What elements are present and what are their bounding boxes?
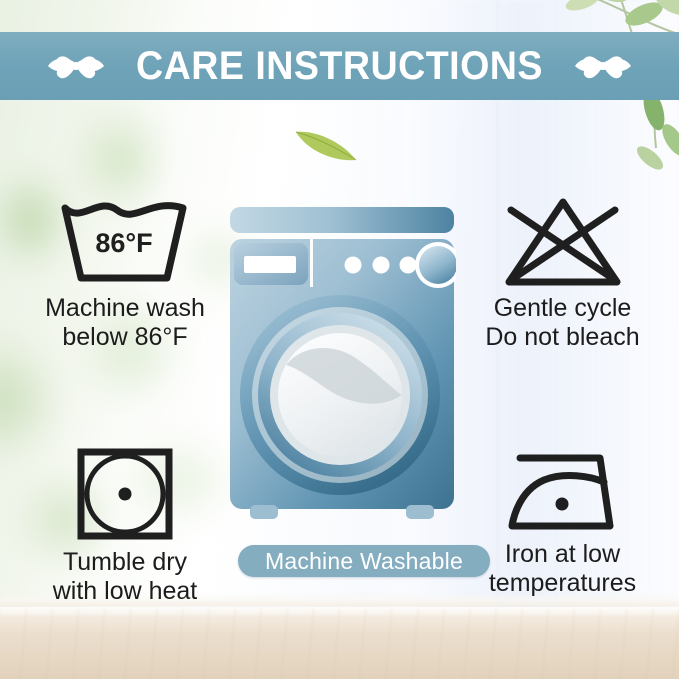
fleur-de-lis-icon-left	[47, 44, 105, 88]
symbol-label-do-not-bleach: Gentle cycle Do not bleach	[485, 294, 639, 352]
iron-low-icon	[498, 446, 628, 534]
wash-temperature-value: 86°F	[95, 228, 152, 258]
control-button[interactable]	[400, 257, 417, 274]
symbol-label-iron-low: Iron at low temperatures	[489, 540, 636, 598]
symbol-label-tumble-dry: Tumble dry with low heat	[53, 548, 198, 606]
washing-machine-graphic	[228, 205, 456, 535]
tumble-dry-low-icon	[75, 446, 175, 542]
triangle-crossed-icon	[497, 196, 629, 288]
wooden-table-surface	[0, 607, 679, 679]
control-button[interactable]	[373, 257, 390, 274]
panel-divider	[310, 239, 313, 287]
wash-tub-icon: 86°F	[55, 196, 195, 288]
symbol-iron-low: Iron at low temperatures	[455, 446, 670, 598]
badge-label: Machine Washable	[265, 550, 463, 573]
control-button[interactable]	[345, 257, 362, 274]
wash-tub-icon-wrap: 86°F	[55, 196, 195, 288]
machine-foot	[406, 505, 434, 519]
control-knob[interactable]	[419, 246, 456, 284]
triangle-crossed-icon-wrap	[497, 196, 629, 288]
symbol-do-not-bleach: Gentle cycle Do not bleach	[455, 196, 670, 352]
symbol-label-machine-wash: Machine wash below 86°F	[45, 294, 205, 352]
machine-lid	[230, 207, 454, 233]
iron-low-icon-wrap	[498, 446, 628, 534]
fleur-de-lis-icon-right	[574, 44, 632, 88]
symbol-tumble-dry: Tumble dry with low heat	[10, 446, 240, 606]
tumble-dry-low-icon-wrap	[75, 446, 175, 542]
detergent-drawer-handle	[244, 256, 296, 273]
washing-machine-illustration	[228, 205, 456, 535]
page-title: CARE INSTRUCTIONS	[136, 46, 543, 86]
symbol-machine-wash: 86°F Machine wash below 86°F	[10, 196, 240, 352]
machine-foot	[250, 505, 278, 519]
header-banner: CARE INSTRUCTIONS	[0, 32, 679, 100]
care-instructions-infographic: CARE INSTRUCTIONS 86°F Machine wash belo…	[0, 0, 679, 679]
machine-washable-badge: Machine Washable	[238, 545, 490, 577]
